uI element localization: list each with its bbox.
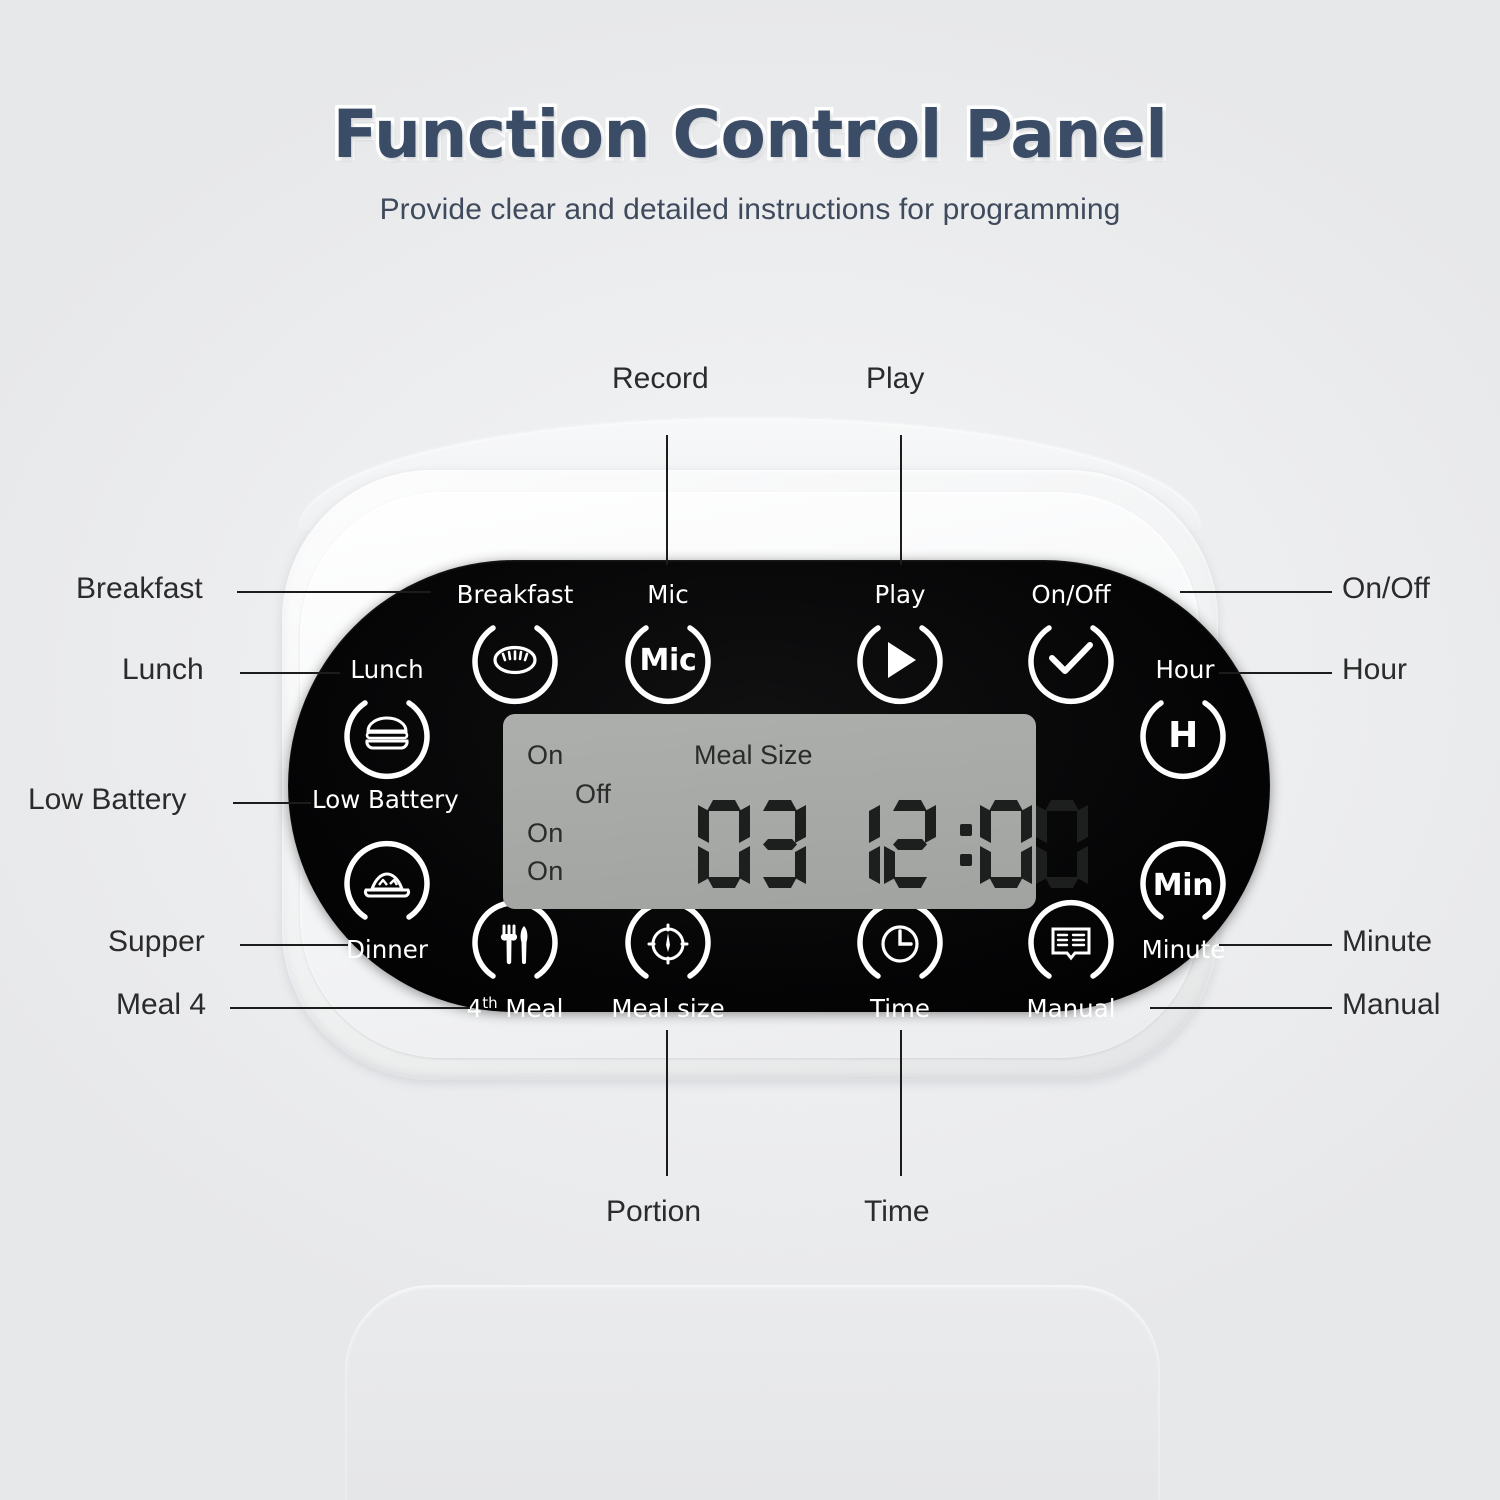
leader-line-meal4 — [230, 1007, 470, 1009]
lcd-portion-value — [698, 800, 806, 888]
dinner-caption: Dinner — [332, 935, 442, 964]
mic-caption: Mic — [618, 580, 718, 609]
leader-line-low-battery — [233, 802, 311, 804]
callout-portion: Portion — [606, 1195, 701, 1229]
lunch-button[interactable] — [339, 687, 435, 783]
lcd-display: On Off On On Meal Size — [503, 714, 1036, 909]
seven-segment-digit — [754, 800, 806, 888]
gauge-icon — [620, 896, 716, 992]
time-button[interactable] — [852, 896, 948, 992]
lcd-clock-hours — [828, 800, 936, 888]
leader-line-portion — [666, 1030, 668, 1176]
hour-icon: H — [1135, 687, 1231, 783]
mic-button[interactable]: Mic — [620, 612, 716, 708]
meal4-caption-text: 4th Meal — [467, 994, 564, 1023]
hour-button[interactable]: H — [1135, 687, 1231, 783]
meal4-button[interactable] — [467, 896, 563, 992]
device-body-bottom — [345, 1285, 1160, 1500]
lcd-schedule-state-2: Off — [575, 779, 611, 810]
dinner-button[interactable] — [339, 837, 435, 933]
onoff-button[interactable] — [1023, 612, 1119, 708]
callout-low-battery: Low Battery — [28, 783, 186, 817]
seven-segment-digit — [828, 800, 880, 888]
page-title: Function Control Panel — [0, 96, 1500, 173]
leader-line-time — [900, 1030, 902, 1176]
bread-icon — [467, 612, 563, 708]
play-caption: Play — [850, 580, 950, 609]
seven-segment-digit — [884, 800, 936, 888]
breakfast-button[interactable] — [467, 612, 563, 708]
callout-onoff: On/Off — [1342, 572, 1430, 606]
header: Function Control Panel Provide clear and… — [0, 0, 1500, 227]
callout-time: Time — [864, 1195, 930, 1229]
lcd-schedule-state-3: On — [527, 818, 563, 849]
meal4-caption: 4th Meal — [456, 994, 574, 1023]
minute-icon: Min — [1135, 837, 1231, 933]
manual-caption: Manual — [1010, 994, 1132, 1023]
onoff-caption: On/Off — [1006, 580, 1136, 609]
leader-line-minute — [1219, 944, 1332, 946]
callout-supper: Supper — [108, 925, 205, 959]
leader-line-play — [900, 435, 902, 565]
leader-line-breakfast — [237, 591, 431, 593]
mic-icon: Mic — [620, 612, 716, 708]
manual-button[interactable] — [1023, 896, 1119, 992]
callout-breakfast: Breakfast — [76, 572, 203, 606]
callout-minute: Minute — [1342, 925, 1432, 959]
seven-segment-digit — [1036, 800, 1088, 888]
leader-line-record — [666, 435, 668, 565]
callout-manual: Manual — [1342, 988, 1440, 1022]
time-caption: Time — [850, 994, 950, 1023]
play-button[interactable] — [852, 612, 948, 708]
minute-button[interactable]: Min — [1135, 837, 1231, 933]
callout-record: Record — [612, 362, 709, 396]
mealsize-caption: Meal size — [608, 994, 728, 1023]
lcd-schedule-state-4: On — [527, 856, 563, 887]
leader-line-hour — [1219, 672, 1332, 674]
minute-caption: Minute — [1121, 935, 1246, 964]
callout-meal4: Meal 4 — [116, 988, 206, 1022]
low-battery-indicator: Low Battery — [312, 785, 459, 814]
lcd-meal-size-label: Meal Size — [694, 740, 813, 771]
page-subtitle: Provide clear and detailed instructions … — [0, 193, 1500, 227]
callout-lunch: Lunch — [122, 653, 204, 687]
hour-caption: Hour — [1135, 655, 1235, 684]
callout-play: Play — [866, 362, 924, 396]
lcd-digits — [698, 798, 1018, 890]
leader-line-supper — [240, 944, 348, 946]
lunch-caption: Lunch — [327, 655, 447, 684]
lcd-schedule-state-1: On — [527, 740, 563, 771]
leader-line-lunch — [240, 672, 340, 674]
seven-segment-digit — [980, 800, 1032, 888]
breakfast-caption: Breakfast — [440, 580, 590, 609]
burger-icon — [339, 687, 435, 783]
seven-segment-digit — [698, 800, 750, 888]
plate-icon — [339, 837, 435, 933]
cutlery-icon — [467, 896, 563, 992]
leader-line-onoff — [1180, 591, 1332, 593]
clock-icon — [852, 896, 948, 992]
play-icon — [852, 612, 948, 708]
manual-book-icon — [1023, 896, 1119, 992]
check-icon — [1023, 612, 1119, 708]
lcd-clock-minutes — [980, 800, 1088, 888]
callout-hour: Hour — [1342, 653, 1407, 687]
mealsize-button[interactable] — [620, 896, 716, 992]
leader-line-manual — [1150, 1007, 1332, 1009]
